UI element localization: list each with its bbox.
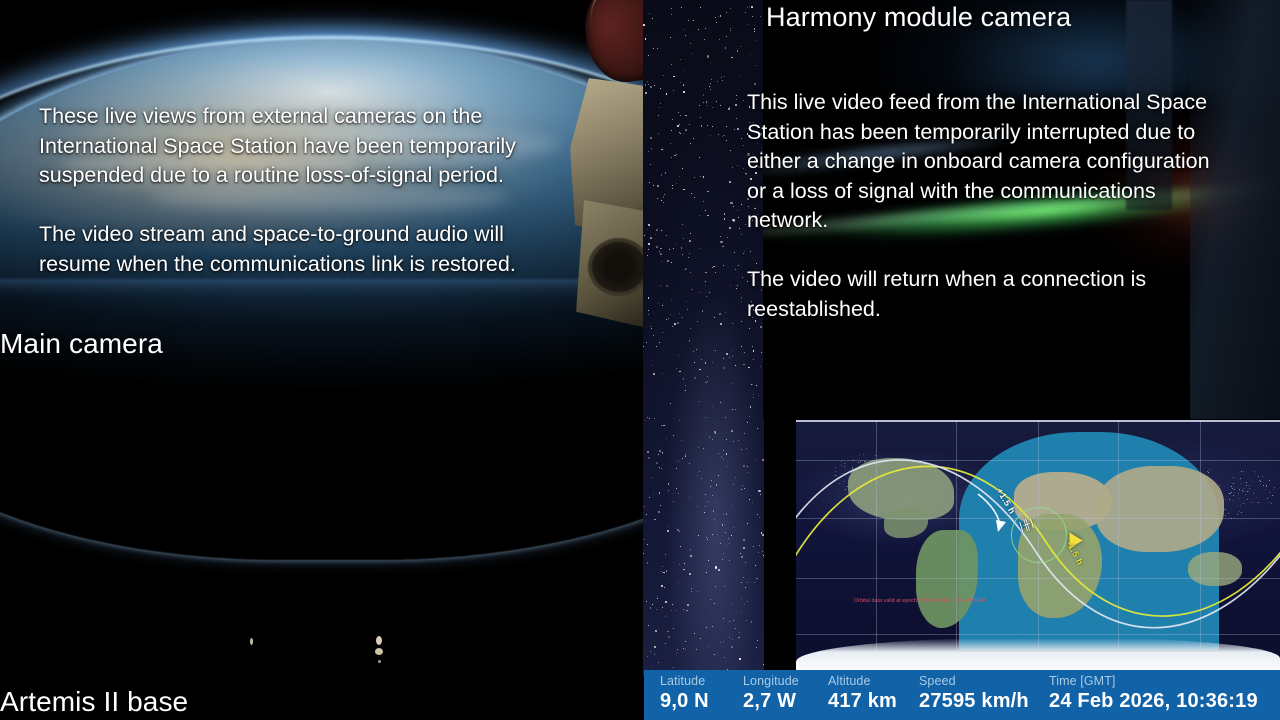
telemetry-latitude: Latitude 9,0 N: [660, 674, 709, 713]
harmony-camera-label: Harmony module camera: [766, 4, 1071, 31]
telemetry-speed-label: Speed: [919, 674, 1029, 689]
telemetry-longitude: Longitude 2,7 W: [743, 674, 799, 713]
telemetry-altitude-label: Altitude: [828, 674, 897, 689]
telemetry-time: Time [GMT] 24 Feb 2026, 10:36:19: [1049, 674, 1258, 713]
telemetry-altitude-value: 417 km: [828, 689, 897, 713]
telemetry-speed: Speed 27595 km/h: [919, 674, 1029, 713]
main-camera-label: Main camera: [0, 330, 163, 358]
artemis-base-label: Artemis II base: [0, 688, 188, 716]
orbit-epoch-note: Orbital data valid at epoch 23 Feb 2026,…: [854, 598, 986, 604]
main-camera-notice-text: These live views from external cameras o…: [39, 102, 599, 279]
telemetry-speed-value: 27595 km/h: [919, 689, 1029, 713]
iss-tracking-map[interactable]: |╫| +1.5 h -1.5 h Orbital data valid at …: [796, 420, 1280, 672]
telemetry-latitude-label: Latitude: [660, 674, 709, 689]
antarctica-ice: [796, 638, 1280, 672]
starfield-strip: [643, 0, 764, 676]
distant-light: [250, 638, 253, 645]
telemetry-latitude-value: 9,0 N: [660, 689, 709, 713]
telemetry-time-value: 24 Feb 2026, 10:36:19: [1049, 689, 1258, 713]
telemetry-bar: Latitude 9,0 N Longitude 2,7 W Altitude …: [644, 670, 1280, 720]
orbit-direction-arrow-head: [996, 520, 1006, 532]
telemetry-longitude-label: Longitude: [743, 674, 799, 689]
harmony-camera-notice-text: This live video feed from the Internatio…: [747, 88, 1280, 324]
telemetry-time-label: Time [GMT]: [1049, 674, 1258, 689]
video-wall: These live views from external cameras o…: [0, 0, 1280, 720]
distant-light: [376, 636, 382, 645]
distant-light: [375, 648, 383, 655]
iss-coverage-footprint: [1011, 507, 1067, 563]
distant-light: [378, 660, 381, 663]
telemetry-altitude: Altitude 417 km: [828, 674, 897, 713]
telemetry-longitude-value: 2,7 W: [743, 689, 799, 713]
